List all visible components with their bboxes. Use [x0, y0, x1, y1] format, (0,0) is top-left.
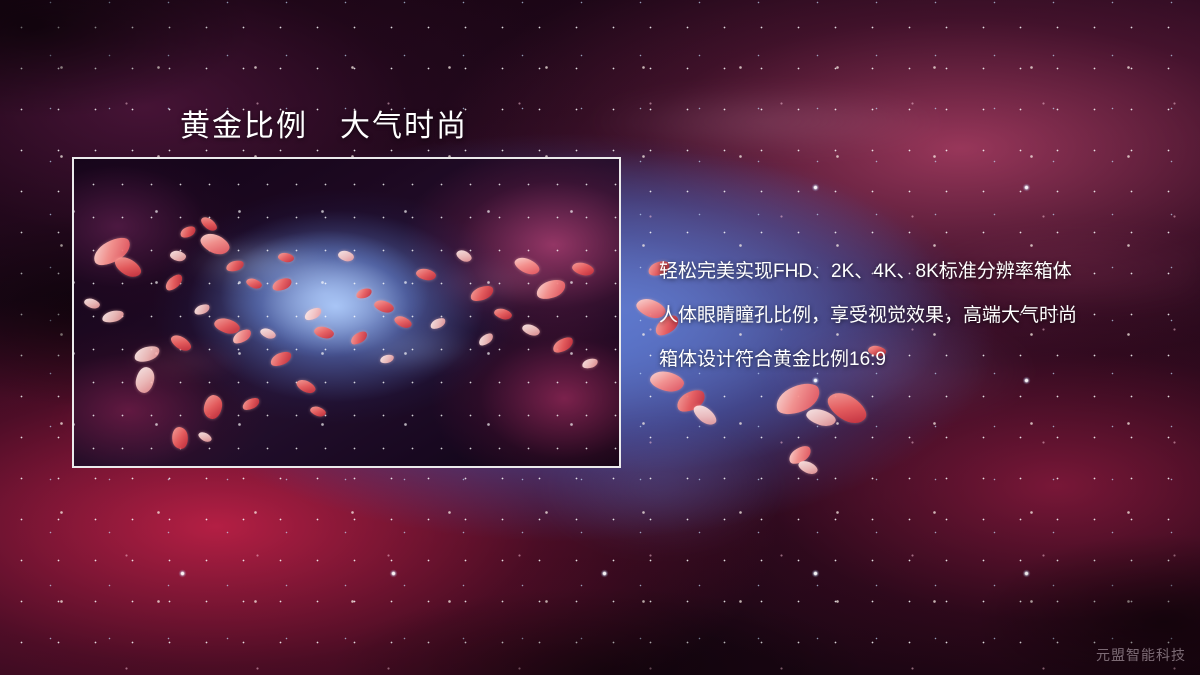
petal-icon [804, 406, 837, 430]
petal-icon [691, 401, 720, 428]
body-line-3: 箱体设计符合黄金比例16:9 [659, 338, 1159, 382]
petal-icon [823, 386, 871, 429]
panel-starfield-icon [74, 159, 619, 466]
body-line-2: 人体眼睛瞳孔比例，享受视觉效果，高端大气时尚 [659, 294, 1159, 338]
petal-icon [786, 443, 814, 467]
slide-canvas: 黄金比例 大气时尚 轻松完美实现FHD、2K、4K、8K标准分辨率箱体 人体眼睛… [0, 0, 1200, 675]
watermark-label: 元盟智能科技 [1096, 645, 1186, 665]
petal-icon [772, 378, 824, 419]
page-title: 黄金比例 大气时尚 [180, 101, 468, 145]
petal-icon [674, 386, 709, 415]
body-text-block: 轻松完美实现FHD、2K、4K、8K标准分辨率箱体 人体眼睛瞳孔比例，享受视觉效… [659, 250, 1159, 382]
body-line-1: 轻松完美实现FHD、2K、4K、8K标准分辨率箱体 [659, 250, 1159, 294]
framed-image-panel [72, 157, 621, 468]
petal-icon [797, 458, 820, 477]
